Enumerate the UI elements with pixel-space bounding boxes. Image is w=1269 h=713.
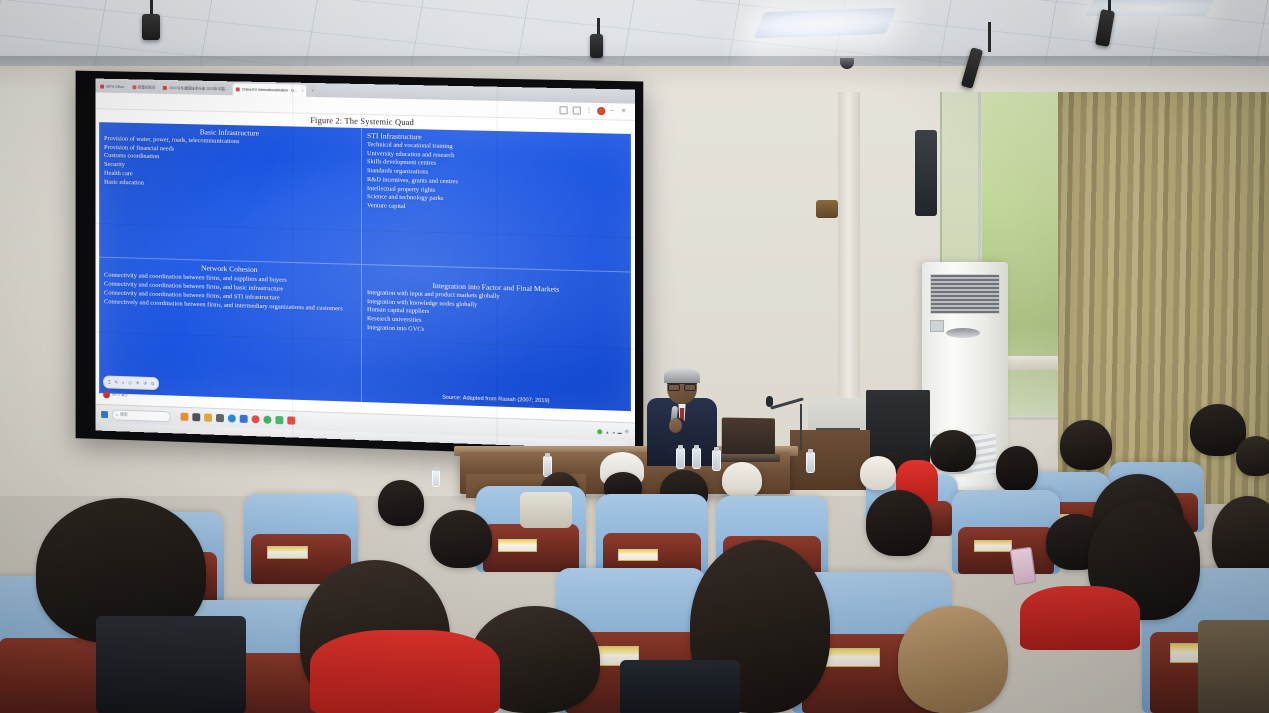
ac-vent-icon	[946, 328, 980, 338]
eraser-icon[interactable]: ◇	[129, 380, 132, 386]
minimize-icon[interactable]: –	[610, 108, 616, 114]
laptop-keyboard[interactable]	[718, 454, 780, 462]
new-tab-button[interactable]: +	[308, 85, 316, 97]
taskbar-tray[interactable]: ▲ ◂ ▬ 中	[597, 428, 629, 435]
projected-desktop[interactable]: WPS Office 新建标签页 GVC与东道国技术升级 2023年中国… Ch…	[95, 79, 635, 450]
wps-brand: WPS 演示	[103, 391, 128, 399]
laptop-screen	[722, 418, 775, 457]
close-icon[interactable]: ×	[302, 89, 304, 93]
start-icon[interactable]	[101, 410, 108, 417]
browser-tab-label: GVC与东道国技术升级 2023年中国…	[169, 86, 228, 92]
undo-icon[interactable]: ↺	[143, 380, 147, 386]
bookmark-icon[interactable]	[560, 106, 568, 114]
audience-torso	[620, 660, 740, 713]
ac-grille-icon	[930, 274, 1000, 314]
favicon-icon	[236, 87, 240, 91]
water-bottle	[676, 448, 685, 469]
laser-icon[interactable]: ✳	[136, 380, 140, 386]
edge-icon[interactable]	[228, 414, 236, 422]
browser-tab-label: China EV Internationalization - G…	[242, 88, 297, 93]
side-table	[790, 430, 870, 490]
audience-head	[378, 480, 424, 526]
folder-icon[interactable]	[204, 414, 212, 422]
extensions-icon[interactable]: ⋮	[586, 108, 592, 114]
browser-tab-label: 新建标签页	[138, 85, 156, 90]
new-tab-label: +	[311, 89, 313, 93]
browser-icon[interactable]	[252, 415, 260, 423]
menu-icon[interactable]: ≡	[622, 108, 628, 114]
seat[interactable]	[952, 490, 1060, 574]
white-cap	[860, 456, 896, 490]
projector-camera-icon	[142, 14, 160, 40]
quadrant-items: Connectivity and coordination between fi…	[104, 271, 356, 315]
audience-head	[430, 510, 492, 568]
systemic-quad-diagram: Basic Infrastructure Provision of water,…	[99, 122, 631, 411]
favicon-icon	[132, 85, 136, 89]
web-page-content: Figure 2: The Systemic Quad Basic Infras…	[95, 109, 635, 422]
browser-tab-1[interactable]: WPS Office	[97, 81, 127, 93]
more-icon[interactable]: ⊙	[151, 380, 155, 386]
audience-head	[1060, 420, 1112, 470]
status-dot	[597, 429, 602, 434]
green-app-icon[interactable]	[275, 416, 283, 424]
battery-icon[interactable]: ▬	[618, 429, 622, 434]
audience-torso	[1198, 620, 1269, 713]
favicon-icon	[100, 85, 104, 89]
wps-logo-icon	[103, 391, 110, 398]
quadrant-basic-infrastructure: Basic Infrastructure Provision of water,…	[99, 122, 362, 265]
wechat-icon[interactable]	[181, 413, 189, 421]
microphone-stand	[800, 404, 802, 450]
presentation-tool-palette[interactable]: ⌶ ✎ ◐ ◇ ✳ ↺ ⊙	[103, 375, 159, 390]
audience-head	[1236, 436, 1269, 476]
search-icon: ⌕	[116, 412, 118, 417]
ceiling-speaker-icon	[590, 34, 603, 58]
wps-brand-label: WPS 演示	[112, 393, 128, 398]
search-placeholder: 搜索	[120, 412, 128, 418]
audience-torso	[96, 616, 246, 713]
taskbar-search-input[interactable]: ⌕ 搜索	[112, 409, 171, 422]
highlight-icon[interactable]: ◐	[122, 380, 125, 385]
wall-speaker-icon	[915, 130, 937, 216]
volume-icon[interactable]: ◂	[612, 429, 614, 434]
audience-head	[866, 490, 932, 556]
ac-panel-icon	[930, 320, 944, 332]
taskbar-app-icons[interactable]	[181, 413, 296, 425]
audience-torso	[520, 492, 572, 528]
browser-tab-label: WPS Office	[106, 85, 124, 89]
wall-pillar	[838, 60, 860, 410]
lecture-hall-scene: WPS Office 新建标签页 GVC与东道国技术升级 2023年中国… Ch…	[0, 0, 1269, 713]
white-cap	[722, 462, 762, 498]
screen-panel-seam	[497, 87, 498, 445]
profile-icon[interactable]	[597, 107, 605, 115]
app-icon[interactable]	[216, 414, 224, 422]
wall-lamp-icon	[816, 200, 838, 218]
file-explorer-icon[interactable]	[192, 413, 200, 421]
chrome-icon[interactable]	[263, 416, 271, 424]
water-bottle	[806, 452, 815, 473]
ime-icon[interactable]: 中	[625, 429, 629, 435]
glasses-icon	[667, 383, 697, 390]
reader-icon[interactable]	[573, 106, 581, 114]
ceiling-light-icon	[754, 8, 897, 39]
red-jacket	[310, 630, 500, 713]
water-bottle	[692, 448, 701, 469]
presenter-hand	[669, 418, 682, 433]
pointer-icon[interactable]: ⌶	[108, 380, 111, 385]
browser-tab-2[interactable]: 新建标签页	[129, 81, 158, 93]
microphone-icon	[766, 396, 773, 407]
audience-shoulder	[898, 606, 1008, 713]
audience-head	[930, 430, 976, 472]
screen-panel-seam	[292, 83, 293, 438]
favicon-icon	[163, 86, 167, 90]
mount-rod	[988, 22, 991, 52]
presenter-laptop[interactable]	[718, 418, 780, 466]
quadrant-items: Provision of water, power, roads, teleco…	[104, 135, 356, 193]
audience-head	[996, 446, 1038, 492]
red-jacket	[1020, 586, 1140, 650]
pen-icon[interactable]: ✎	[114, 379, 118, 385]
presenter-hair	[664, 368, 700, 383]
water-bottle	[712, 450, 721, 471]
network-icon[interactable]: ▲	[605, 429, 609, 434]
water-bottle	[432, 470, 440, 487]
a-app-icon[interactable]	[240, 415, 248, 423]
